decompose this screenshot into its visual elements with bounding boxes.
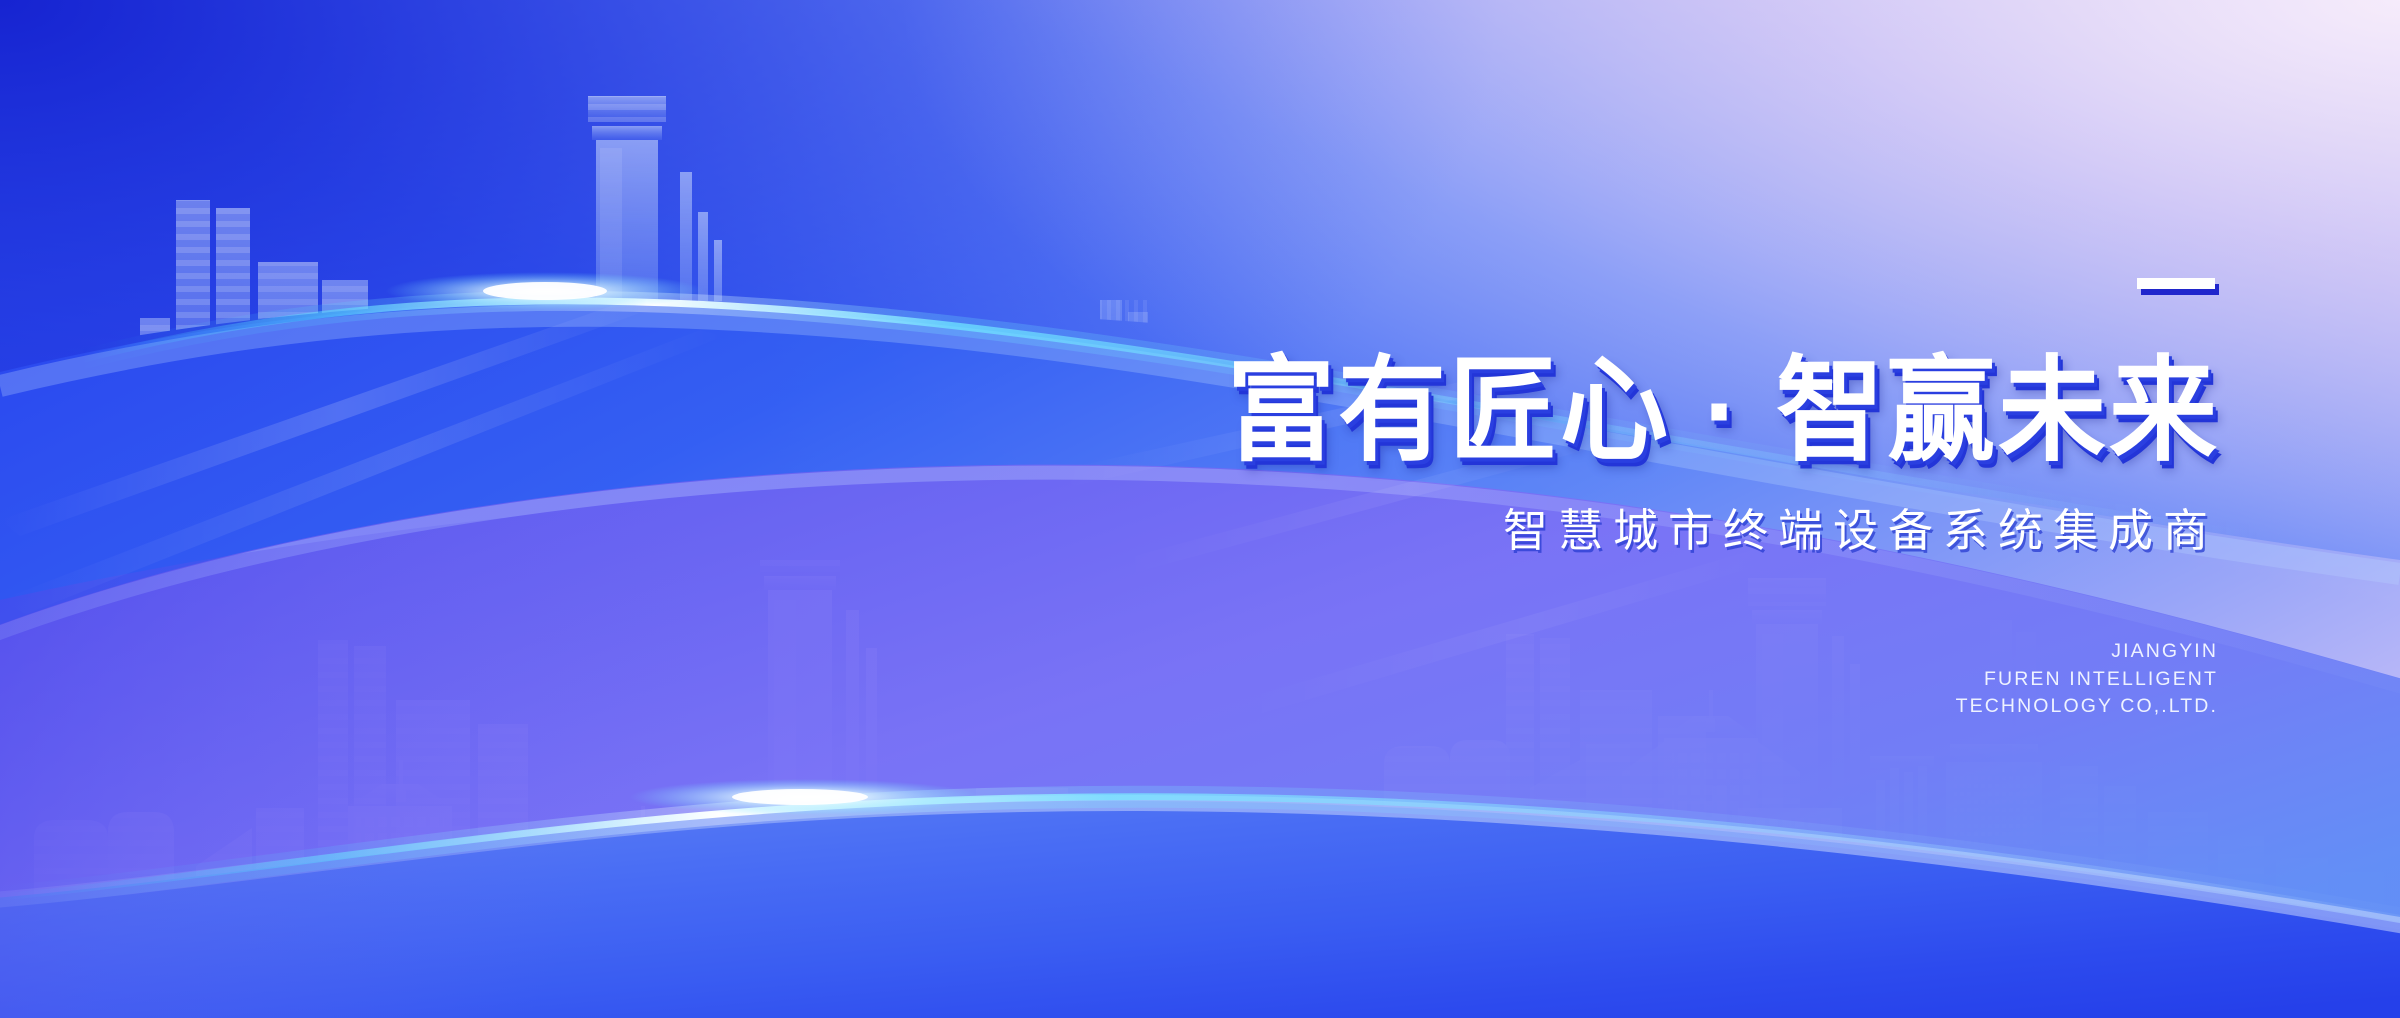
company-line-2: FUREN INTELLIGENT	[1956, 666, 2218, 694]
accent-dash-icon	[2137, 278, 2215, 289]
main-title: 富有匠心 · 智赢未来	[1227, 354, 2220, 468]
company-name-english: JIANGYIN FUREN INTELLIGENT TECHNOLOGY CO…	[1956, 638, 2218, 721]
company-line-3: TECHNOLOGY CO,.LTD.	[1956, 693, 2218, 721]
banner-root: 富有匠心 · 智赢未来 智慧城市终端设备系统集成商 JIANGYIN FUREN…	[0, 0, 2400, 1018]
company-line-1: JIANGYIN	[1956, 638, 2218, 666]
sub-title: 智慧城市终端设备系统集成商	[1503, 508, 2218, 553]
